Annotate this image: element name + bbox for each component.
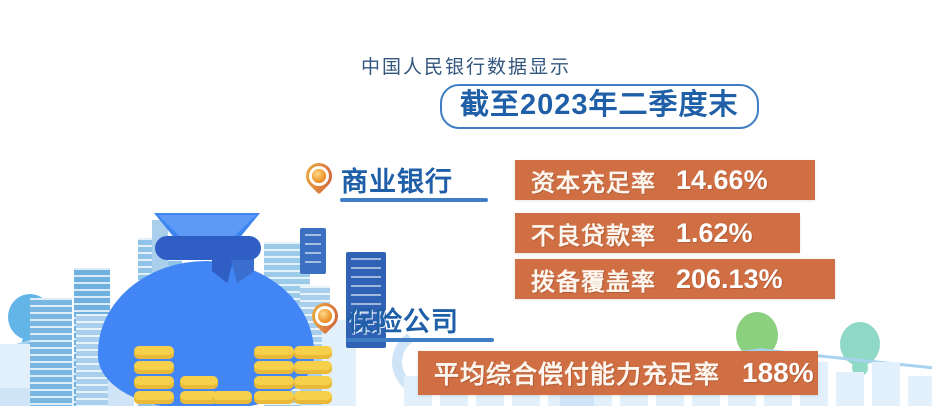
metric-label: 平均综合偿付能力充足率 — [434, 355, 720, 391]
metric-bar-provision-coverage: 拨备覆盖率 206.13% — [515, 259, 835, 299]
metric-label: 拨备覆盖率 — [531, 262, 656, 297]
metric-label: 不良贷款率 — [531, 216, 656, 251]
building — [836, 372, 864, 406]
section-label-insurance-company: 保险公司 — [312, 300, 459, 339]
section-underline — [346, 338, 494, 342]
metric-bar-npl-ratio: 不良贷款率 1.62% — [515, 213, 800, 253]
section-label-text: 保险公司 — [347, 300, 459, 339]
metric-value: 188% — [742, 357, 814, 389]
metric-bar-capital-adequacy: 资本充足率 14.66% — [515, 160, 815, 200]
period-title-badge: 截至2023年二季度末 — [440, 84, 759, 129]
map-pin-icon — [312, 303, 338, 337]
metric-bar-solvency-adequacy: 平均综合偿付能力充足率 188% — [418, 351, 818, 395]
coin-stack — [134, 346, 174, 406]
section-label-text: 商业银行 — [341, 160, 453, 199]
period-title: 截至2023年二季度末 — [460, 89, 739, 122]
map-pin-icon — [306, 163, 332, 197]
infographic-canvas: CCTV13 新 闻 中国人民银行数据显示 截至2023年二季度末 商业银行 资… — [0, 0, 932, 406]
source-subtitle: 中国人民银行数据显示 — [0, 52, 932, 79]
metric-value: 14.66% — [676, 165, 768, 196]
coin-stack — [254, 346, 294, 406]
money-bag-illustration — [92, 213, 320, 406]
metric-label: 资本充足率 — [531, 163, 656, 198]
metric-value: 1.62% — [676, 218, 753, 249]
money-bag-tie — [155, 236, 261, 260]
building — [908, 376, 932, 406]
building — [872, 362, 900, 406]
building-windows — [30, 298, 72, 406]
section-underline — [340, 198, 488, 202]
coin-stack — [212, 391, 252, 406]
coin-stack — [294, 346, 332, 406]
section-label-commercial-bank: 商业银行 — [306, 160, 453, 199]
metric-value: 206.13% — [676, 264, 783, 295]
